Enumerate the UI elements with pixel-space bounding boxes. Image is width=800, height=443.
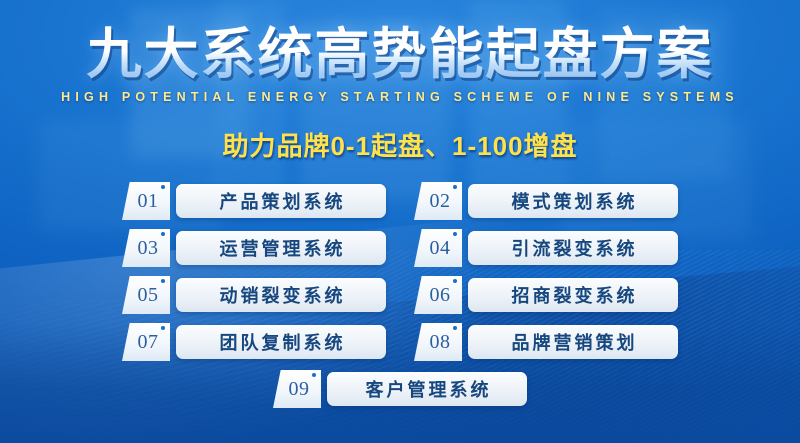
number-badge: 08: [414, 323, 462, 361]
list-row: 07 团队复制系统 08 品牌营销策划: [0, 323, 800, 361]
badge-number: 09: [289, 378, 310, 401]
system-label: 运营管理系统: [217, 235, 346, 261]
system-label: 客户管理系统: [363, 376, 492, 402]
badge-dot-icon: [161, 326, 165, 330]
list-item[interactable]: 03 运营管理系统: [122, 229, 386, 267]
page-title: 九大系统高势能起盘方案: [0, 24, 800, 84]
badge-dot-icon: [312, 373, 316, 377]
badge-dot-icon: [453, 326, 457, 330]
list-item[interactable]: 08 品牌营销策划: [414, 323, 678, 361]
number-badge: 03: [122, 229, 170, 267]
number-badge: 02: [414, 182, 462, 220]
system-pill[interactable]: 品牌营销策划: [468, 325, 678, 359]
list-row: 03 运营管理系统 04 引流裂变系统: [0, 229, 800, 267]
system-label: 招商裂变系统: [509, 282, 638, 308]
number-badge: 06: [414, 276, 462, 314]
badge-number: 02: [430, 190, 451, 213]
english-subtitle: HIGH POTENTIAL ENERGY STARTING SCHEME OF…: [0, 90, 800, 104]
number-badge: 05: [122, 276, 170, 314]
list-item[interactable]: 05 动销裂变系统: [122, 276, 386, 314]
system-label: 引流裂变系统: [509, 235, 638, 261]
system-pill[interactable]: 运营管理系统: [176, 231, 386, 265]
system-pill[interactable]: 产品策划系统: [176, 184, 386, 218]
badge-number: 01: [138, 190, 159, 213]
system-label: 团队复制系统: [217, 329, 346, 355]
badge-number: 05: [138, 284, 159, 307]
promo-poster: 九大系统高势能起盘方案 HIGH POTENTIAL ENERGY STARTI…: [0, 0, 800, 443]
number-badge: 09: [273, 370, 321, 408]
system-pill[interactable]: 团队复制系统: [176, 325, 386, 359]
list-item[interactable]: 02 模式策划系统: [414, 182, 678, 220]
list-item[interactable]: 09 客户管理系统: [273, 370, 527, 408]
number-badge: 07: [122, 323, 170, 361]
badge-dot-icon: [161, 185, 165, 189]
badge-dot-icon: [453, 185, 457, 189]
list-row: 09 客户管理系统: [0, 370, 800, 408]
system-pill[interactable]: 模式策划系统: [468, 184, 678, 218]
number-badge: 04: [414, 229, 462, 267]
list-item[interactable]: 01 产品策划系统: [122, 182, 386, 220]
badge-number: 08: [430, 331, 451, 354]
badge-number: 07: [138, 331, 159, 354]
badge-dot-icon: [453, 279, 457, 283]
system-pill[interactable]: 招商裂变系统: [468, 278, 678, 312]
system-pill[interactable]: 客户管理系统: [327, 372, 527, 406]
badge-number: 04: [430, 237, 451, 260]
badge-number: 03: [138, 237, 159, 260]
list-row: 05 动销裂变系统 06 招商裂变系统: [0, 276, 800, 314]
system-pill[interactable]: 动销裂变系统: [176, 278, 386, 312]
badge-dot-icon: [161, 232, 165, 236]
system-label: 产品策划系统: [217, 188, 346, 214]
list-item[interactable]: 06 招商裂变系统: [414, 276, 678, 314]
number-badge: 01: [122, 182, 170, 220]
badge-dot-icon: [161, 279, 165, 283]
system-label: 动销裂变系统: [217, 282, 346, 308]
system-pill[interactable]: 引流裂变系统: [468, 231, 678, 265]
badge-dot-icon: [453, 232, 457, 236]
list-item[interactable]: 07 团队复制系统: [122, 323, 386, 361]
badge-number: 06: [430, 284, 451, 307]
list-item[interactable]: 04 引流裂变系统: [414, 229, 678, 267]
system-label: 品牌营销策划: [509, 329, 638, 355]
system-label: 模式策划系统: [509, 188, 638, 214]
system-list: 01 产品策划系统 02 模式策划系统 03: [0, 182, 800, 417]
list-row: 01 产品策划系统 02 模式策划系统: [0, 182, 800, 220]
poster-header: 九大系统高势能起盘方案 HIGH POTENTIAL ENERGY STARTI…: [0, 24, 800, 163]
chinese-subtitle: 助力品牌0-1起盘、1-100增盘: [0, 126, 800, 163]
